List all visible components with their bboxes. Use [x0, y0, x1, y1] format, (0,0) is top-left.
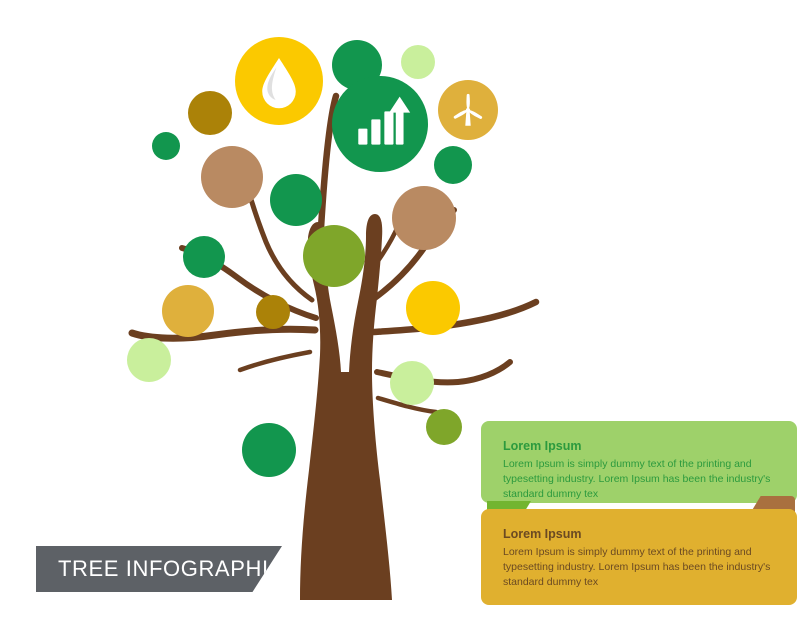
decorative-circle: [242, 423, 296, 477]
decorative-circle: [201, 146, 263, 208]
decorative-circle: [152, 132, 180, 160]
decorative-circle: [188, 91, 232, 135]
callout-card-gold: Lorem Ipsum Lorem Ipsum is simply dummy …: [481, 509, 797, 605]
decorative-circle: [426, 409, 462, 445]
decorative-circle: [390, 361, 434, 405]
decorative-circle: [256, 295, 290, 329]
callout-gold-body: Lorem Ipsum is simply dummy text of the …: [503, 545, 775, 590]
decorative-circle: [303, 225, 365, 287]
decorative-circle: [434, 146, 472, 184]
decorative-circle: [162, 285, 214, 337]
decorative-circle: [127, 338, 171, 382]
decorative-circle: [392, 186, 456, 250]
callout-green-heading: Lorem Ipsum: [503, 438, 775, 455]
decorative-circle: [183, 236, 225, 278]
decorative-circle: [406, 281, 460, 335]
callout-card-green: Lorem Ipsum Lorem Ipsum is simply dummy …: [481, 421, 797, 503]
callout-gold-content: Lorem Ipsum Lorem Ipsum is simply dummy …: [481, 509, 797, 606]
infographic-canvas: Water DropGrowth ChartWind Turbine TREE …: [0, 0, 800, 623]
callout-gold-heading: Lorem Ipsum: [503, 526, 775, 543]
title-banner: TREE INFOGRAPHIC: [36, 546, 282, 592]
callout-green-body: Lorem Ipsum is simply dummy text of the …: [503, 457, 775, 502]
decorative-circle: [401, 45, 435, 79]
page-title: TREE INFOGRAPHIC: [36, 556, 285, 582]
decorative-circle: [270, 174, 322, 226]
